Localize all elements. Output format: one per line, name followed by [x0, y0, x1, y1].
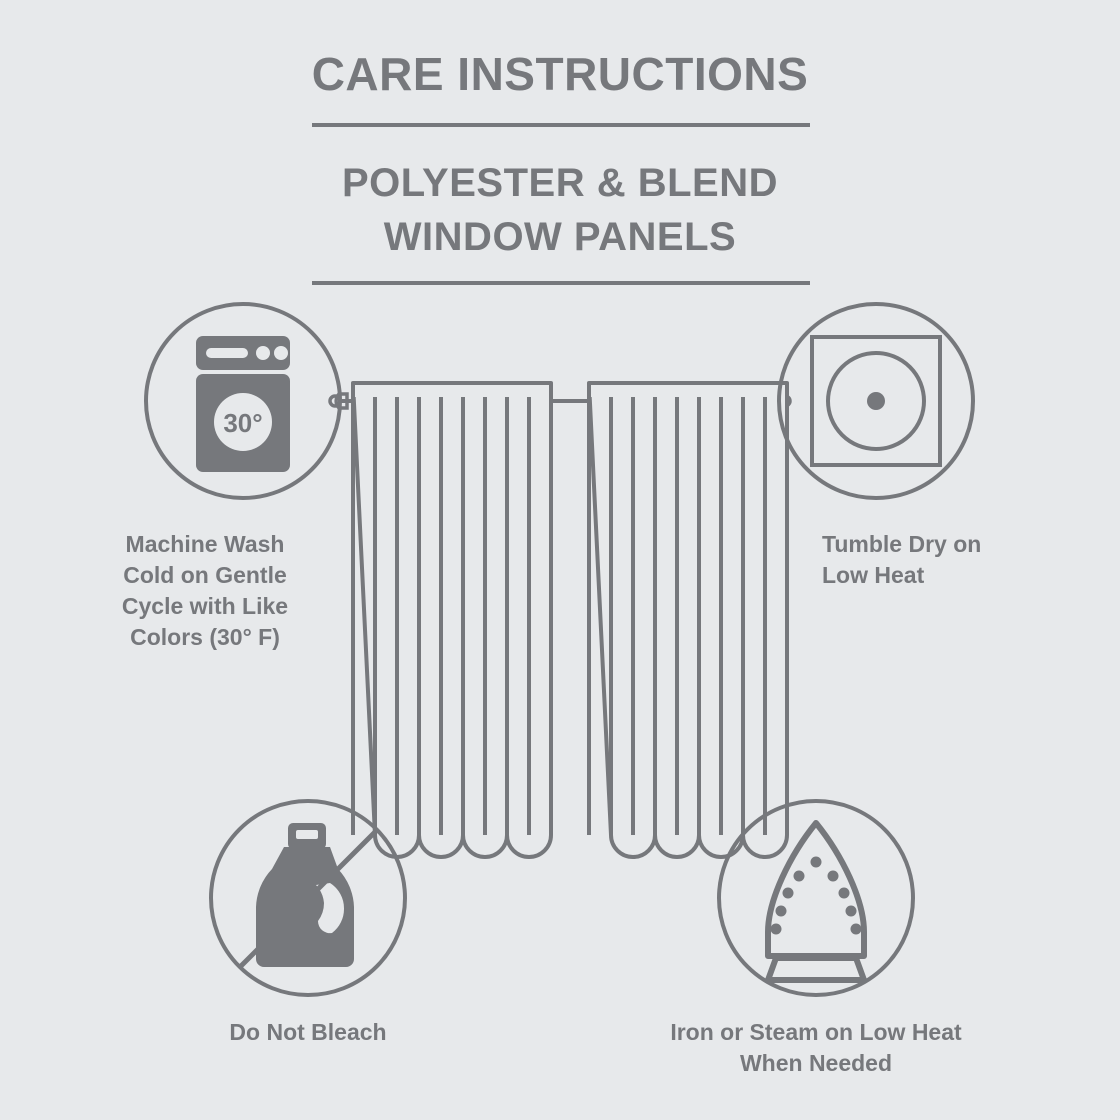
machine-wash-label-line-4: Colors (30° F) [130, 624, 280, 650]
curtain-panel-right-outline [589, 383, 787, 857]
iron-label-line-1: Iron or Steam on Low Heat [670, 1019, 962, 1045]
iron-steam-hole [771, 924, 782, 935]
iron-steam-hole [846, 906, 857, 917]
page-subtitle-line1: POLYESTER & BLEND [342, 161, 778, 205]
iron-steam-hole [783, 888, 794, 899]
washing-machine-dial-1 [256, 346, 270, 360]
curtain-panel-left [353, 383, 551, 857]
iron-steam-hole [794, 871, 805, 882]
infographic-canvas: CARE INSTRUCTIONS POLYESTER & BLEND WIND… [0, 0, 1120, 1120]
machine-wash-label-line-3: Cycle with Like [122, 593, 288, 619]
page-title: CARE INSTRUCTIONS [312, 48, 809, 100]
bleach-bottle-cap-slot [296, 830, 318, 839]
care-instructions-infographic: CARE INSTRUCTIONS POLYESTER & BLEND WIND… [0, 0, 1120, 1120]
washing-machine-dial-2 [274, 346, 288, 360]
iron-steam-hole [839, 888, 850, 899]
page-subtitle-line2: WINDOW PANELS [384, 215, 736, 259]
wash-temperature-badge: 30° [223, 408, 262, 438]
iron-steam-hole [828, 871, 839, 882]
do-not-bleach-label: Do Not Bleach [229, 1019, 386, 1045]
machine-wash-label-line-2: Cold on Gentle [123, 562, 287, 588]
tumble-dry-label-line-2: Low Heat [822, 562, 925, 588]
curtain-panel-left-outline [353, 383, 551, 857]
tumble-dry-label-line-1: Tumble Dry on [822, 531, 981, 557]
curtain-panel-right-header [589, 383, 787, 397]
iron-base-plate [768, 958, 864, 980]
curtain-panel-right [589, 383, 787, 857]
tumble-dry-low-heat-dot [867, 392, 885, 410]
washing-machine-detergent-slot [206, 348, 248, 358]
machine-wash-label-line-1: Machine Wash [126, 531, 285, 557]
washing-machine-icon: 30° [196, 336, 290, 472]
iron-label-line-2: When Needed [740, 1050, 892, 1076]
iron-steam-hole [811, 857, 822, 868]
iron-steam-hole [776, 906, 787, 917]
iron-steam-hole [851, 924, 862, 935]
curtain-panel-left-header [353, 383, 551, 397]
